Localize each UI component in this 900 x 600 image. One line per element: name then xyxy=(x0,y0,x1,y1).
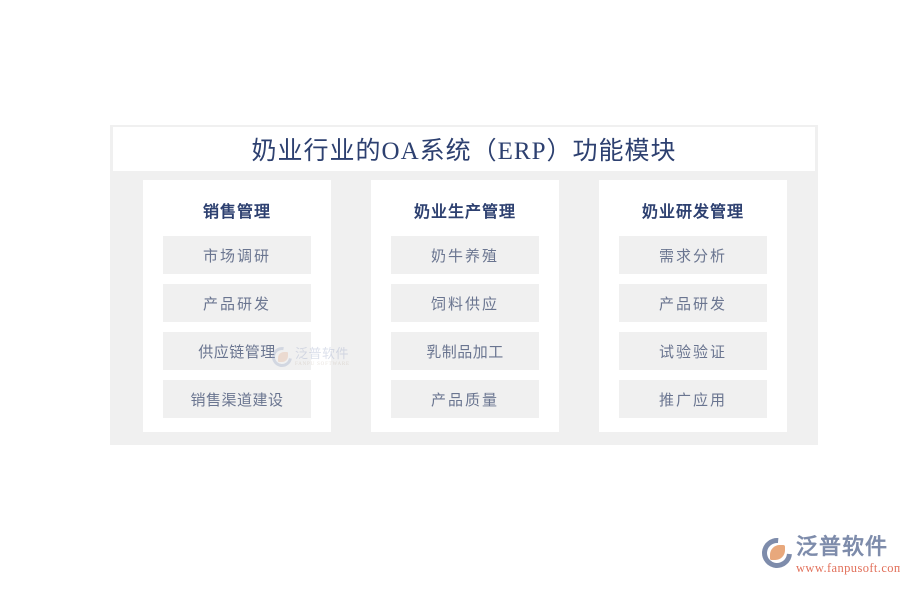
module-item[interactable]: 饲料供应 xyxy=(391,284,539,322)
module-item-list: 奶牛养殖 饲料供应 乳制品加工 产品质量 xyxy=(371,236,559,418)
module-columns-row: 销售管理 市场调研 产品研发 供应链管理 销售渠道建设 奶业生产管理 奶牛养殖 … xyxy=(143,180,788,432)
module-item[interactable]: 需求分析 xyxy=(619,236,767,274)
brand-text: 泛普软件 www.fanpusoft.com xyxy=(796,536,900,575)
module-column-title: 奶业生产管理 xyxy=(414,198,516,222)
module-item[interactable]: 市场调研 xyxy=(163,236,311,274)
module-item[interactable]: 产品研发 xyxy=(163,284,311,322)
diagram-container: 奶业行业的OA系统（ERP）功能模块 销售管理 市场调研 产品研发 供应链管理 … xyxy=(110,125,818,445)
diagram-title-band: 奶业行业的OA系统（ERP）功能模块 xyxy=(113,127,815,171)
page-title: 奶业行业的OA系统（ERP）功能模块 xyxy=(252,131,677,167)
module-item-list: 市场调研 产品研发 供应链管理 销售渠道建设 xyxy=(143,236,331,418)
module-column-rnd: 奶业研发管理 需求分析 产品研发 试验验证 推广应用 xyxy=(599,180,787,432)
module-item[interactable]: 产品质量 xyxy=(391,380,539,418)
module-column-title: 销售管理 xyxy=(203,198,271,222)
module-item[interactable]: 奶牛养殖 xyxy=(391,236,539,274)
module-item[interactable]: 推广应用 xyxy=(619,380,767,418)
module-column-title: 奶业研发管理 xyxy=(642,198,744,222)
module-item[interactable]: 试验验证 xyxy=(619,332,767,370)
brand-name: 泛普软件 xyxy=(796,536,900,558)
module-item[interactable]: 销售渠道建设 xyxy=(163,380,311,418)
fanpu-logo-icon xyxy=(762,538,792,568)
module-item-list: 需求分析 产品研发 试验验证 推广应用 xyxy=(599,236,787,418)
brand-logo: 泛普软件 www.fanpusoft.com xyxy=(762,536,892,590)
module-column-production: 奶业生产管理 奶牛养殖 饲料供应 乳制品加工 产品质量 xyxy=(371,180,559,432)
module-item[interactable]: 乳制品加工 xyxy=(391,332,539,370)
module-item[interactable]: 产品研发 xyxy=(619,284,767,322)
module-item[interactable]: 供应链管理 xyxy=(163,332,311,370)
brand-url: www.fanpusoft.com xyxy=(796,562,900,575)
module-column-sales: 销售管理 市场调研 产品研发 供应链管理 销售渠道建设 xyxy=(143,180,331,432)
